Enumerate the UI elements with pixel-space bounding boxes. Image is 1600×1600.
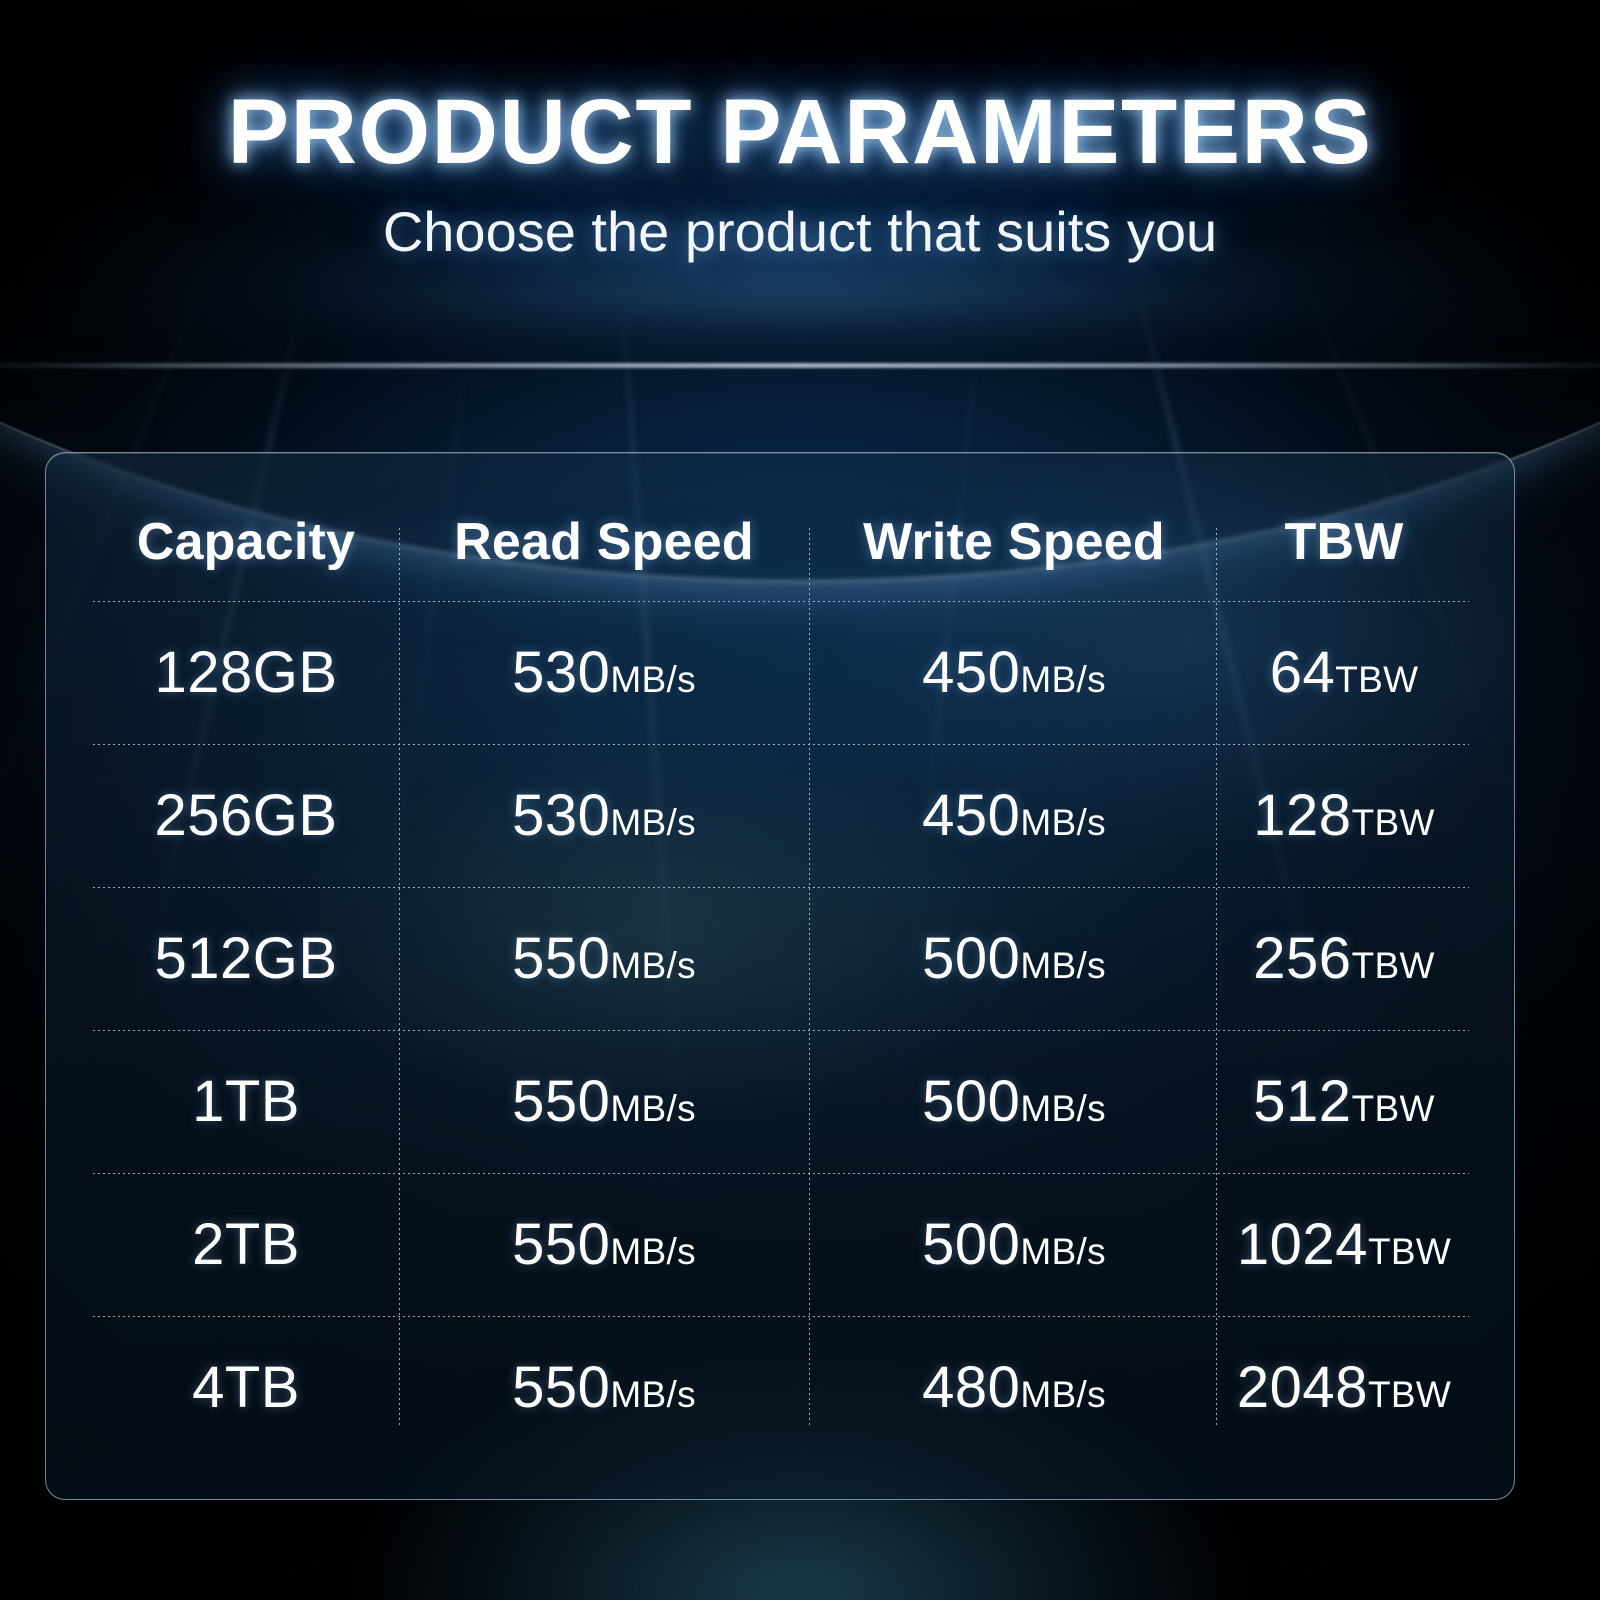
page-title: PRODUCT PARAMETERS (0, 86, 1600, 178)
read-value: 530 (512, 640, 610, 705)
write-unit: MB/s (1020, 1374, 1105, 1415)
write-value: 500 (922, 1069, 1020, 1134)
cell-tbw: 1024TBW (1219, 1211, 1469, 1278)
cell-tbw: 2048TBW (1219, 1354, 1469, 1421)
write-unit: MB/s (1020, 1231, 1105, 1272)
capacity-value: 128GB (154, 640, 337, 705)
write-unit: MB/s (1020, 945, 1105, 986)
product-parameters-page: PRODUCT PARAMETERS Choose the product th… (0, 0, 1600, 1600)
capacity-value: 1TB (192, 1069, 300, 1134)
cell-read-speed: 550MB/s (399, 925, 809, 992)
read-value: 550 (512, 926, 610, 991)
tbw-unit: TBW (1368, 1374, 1451, 1415)
column-divider-2 (809, 528, 810, 1428)
table-row: 2TB 550MB/s 500MB/s 1024TBW (93, 1173, 1469, 1316)
capacity-value: 512GB (154, 926, 337, 991)
read-value: 550 (512, 1212, 610, 1277)
table-row: 256GB 530MB/s 450MB/s 128TBW (93, 744, 1469, 887)
table-row: 1TB 550MB/s 500MB/s 512TBW (93, 1030, 1469, 1173)
tbw-value: 512 (1253, 1069, 1351, 1134)
page-subtitle: Choose the product that suits you (0, 204, 1600, 260)
cell-tbw: 256TBW (1219, 925, 1469, 992)
write-unit: MB/s (1020, 802, 1105, 843)
read-unit: MB/s (610, 1374, 695, 1415)
write-unit: MB/s (1020, 1088, 1105, 1129)
cell-write-speed: 450MB/s (809, 639, 1219, 706)
tbw-unit: TBW (1335, 659, 1418, 700)
cell-capacity: 1TB (93, 1068, 399, 1135)
cell-read-speed: 550MB/s (399, 1211, 809, 1278)
column-header-capacity: Capacity (93, 512, 399, 572)
read-value: 550 (512, 1069, 610, 1134)
column-header-write-speed: Write Speed (809, 512, 1219, 572)
cell-tbw: 128TBW (1219, 782, 1469, 849)
cell-read-speed: 530MB/s (399, 639, 809, 706)
cell-tbw: 512TBW (1219, 1068, 1469, 1135)
capacity-value: 4TB (192, 1355, 300, 1420)
write-value: 450 (922, 783, 1020, 848)
cell-capacity: 512GB (93, 925, 399, 992)
column-header-read-speed: Read Speed (399, 512, 809, 572)
read-value: 550 (512, 1355, 610, 1420)
read-unit: MB/s (610, 802, 695, 843)
column-divider-1 (399, 528, 400, 1428)
cell-capacity: 2TB (93, 1211, 399, 1278)
page-heading: PRODUCT PARAMETERS Choose the product th… (0, 86, 1600, 260)
read-unit: MB/s (610, 1231, 695, 1272)
column-divider-3 (1216, 528, 1217, 1428)
tbw-value: 128 (1253, 783, 1351, 848)
tbw-unit: TBW (1352, 1088, 1435, 1129)
cell-write-speed: 500MB/s (809, 925, 1219, 992)
tbw-value: 2048 (1237, 1355, 1368, 1420)
write-value: 480 (922, 1355, 1020, 1420)
tbw-unit: TBW (1352, 945, 1435, 986)
write-unit: MB/s (1020, 659, 1105, 700)
cell-read-speed: 530MB/s (399, 782, 809, 849)
parameters-panel: Capacity Read Speed Write Speed TBW 128G… (45, 452, 1515, 1500)
column-header-tbw: TBW (1219, 512, 1469, 572)
cell-tbw: 64TBW (1219, 639, 1469, 706)
write-value: 500 (922, 926, 1020, 991)
capacity-value: 256GB (154, 783, 337, 848)
cell-write-speed: 500MB/s (809, 1068, 1219, 1135)
table-row: 512GB 550MB/s 500MB/s 256TBW (93, 887, 1469, 1030)
read-unit: MB/s (610, 659, 695, 700)
tbw-unit: TBW (1368, 1231, 1451, 1272)
read-value: 530 (512, 783, 610, 848)
cell-write-speed: 500MB/s (809, 1211, 1219, 1278)
tbw-unit: TBW (1352, 802, 1435, 843)
read-unit: MB/s (610, 945, 695, 986)
write-value: 500 (922, 1212, 1020, 1277)
cell-read-speed: 550MB/s (399, 1068, 809, 1135)
tbw-value: 256 (1253, 926, 1351, 991)
tbw-value: 64 (1270, 640, 1336, 705)
table-row: 4TB 550MB/s 480MB/s 2048TBW (93, 1316, 1469, 1459)
write-value: 450 (922, 640, 1020, 705)
parameters-table: Capacity Read Speed Write Speed TBW 128G… (93, 483, 1469, 1459)
cell-write-speed: 450MB/s (809, 782, 1219, 849)
read-unit: MB/s (610, 1088, 695, 1129)
cell-read-speed: 550MB/s (399, 1354, 809, 1421)
capacity-value: 2TB (192, 1212, 300, 1277)
cell-write-speed: 480MB/s (809, 1354, 1219, 1421)
cell-capacity: 4TB (93, 1354, 399, 1421)
table-row: 128GB 530MB/s 450MB/s 64TBW (93, 601, 1469, 744)
tbw-value: 1024 (1237, 1212, 1368, 1277)
cell-capacity: 256GB (93, 782, 399, 849)
table-header-row: Capacity Read Speed Write Speed TBW (93, 483, 1469, 601)
cell-capacity: 128GB (93, 639, 399, 706)
